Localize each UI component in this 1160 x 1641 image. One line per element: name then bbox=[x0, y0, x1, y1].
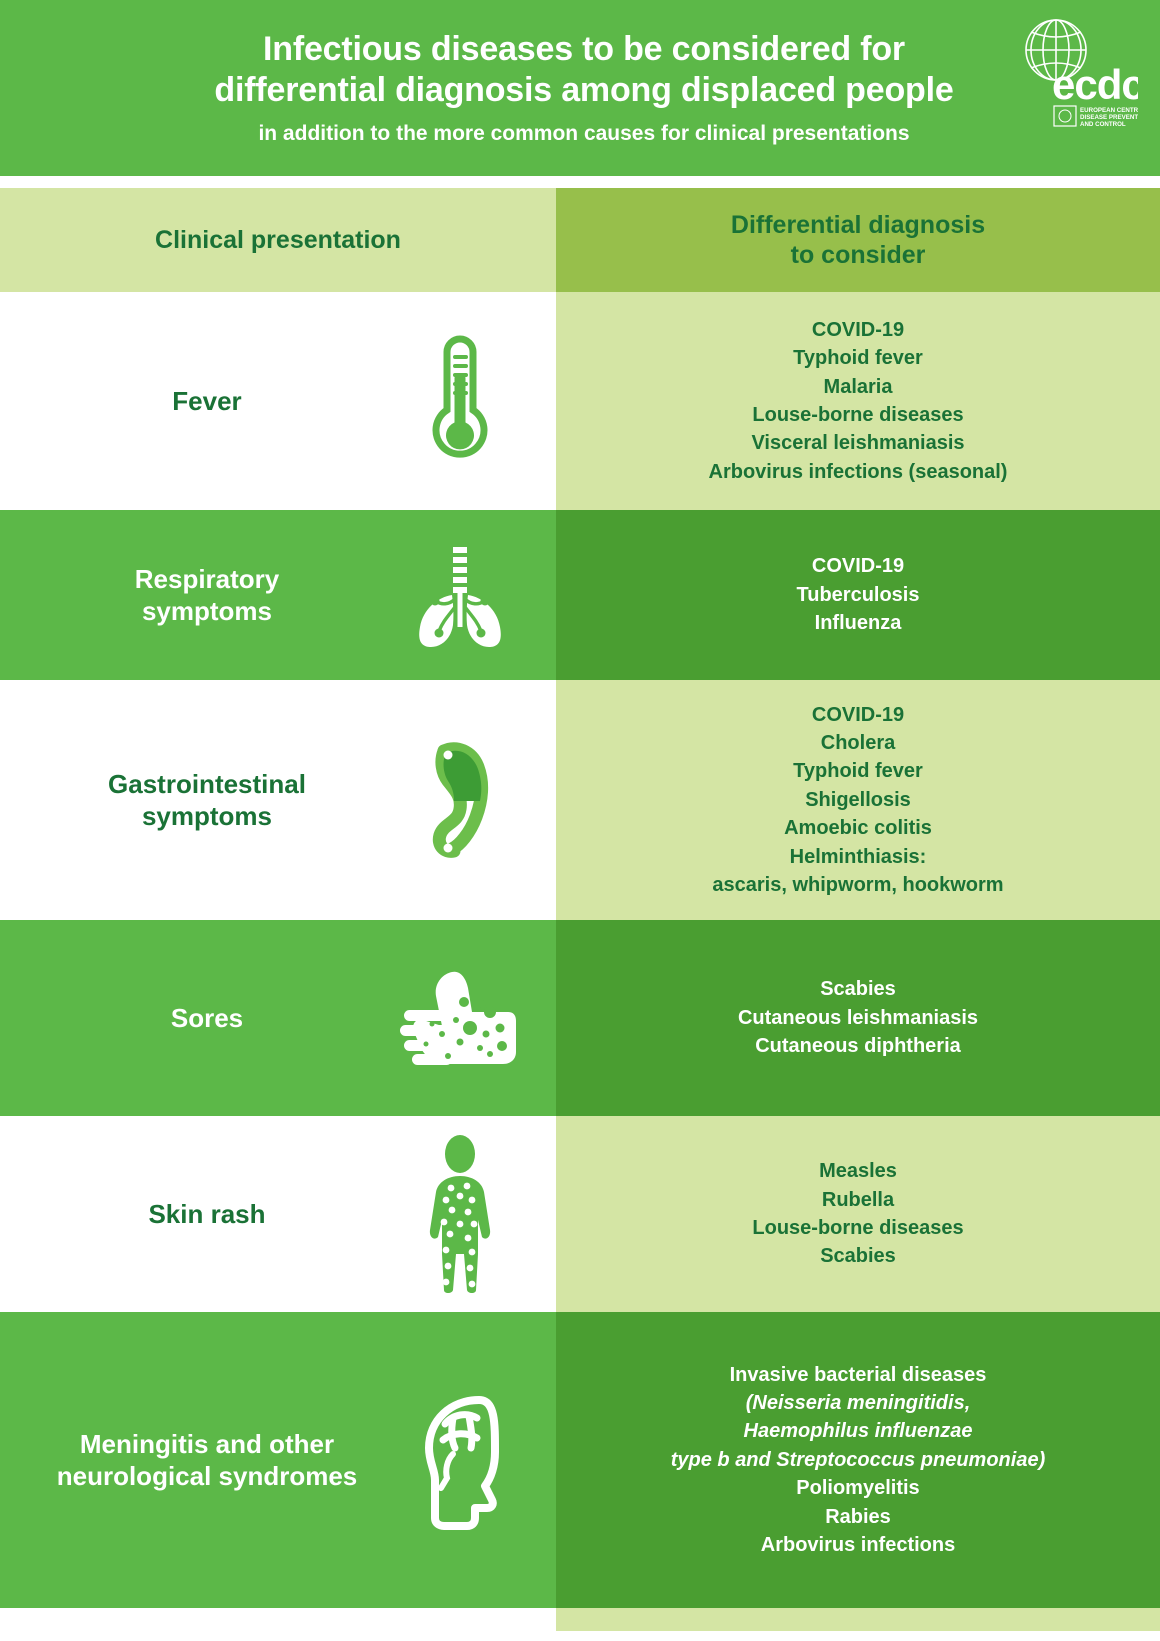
org-line-2: DISEASE PREVENTION bbox=[1080, 114, 1138, 121]
presentation-label-meningitis: Meningitis and other neurological syndro… bbox=[0, 1428, 386, 1493]
body-with-rash-icon bbox=[386, 1134, 556, 1294]
diagnosis-item: Cutaneous leishmaniasis bbox=[738, 1004, 978, 1032]
table-row-gastrointestinal-symptoms: Gastrointestinal symptoms COVID-19 Chole… bbox=[0, 680, 1160, 920]
thermometer-icon bbox=[386, 331, 556, 471]
diagnosis-list-respiratory-symptoms: COVID-19 Tuberculosis Influenza bbox=[797, 552, 920, 637]
head-brain-icon bbox=[386, 1390, 556, 1530]
diagnosis-item: Shigellosis bbox=[712, 786, 1003, 814]
diagnosis-list-skin-rash: Measles Rubella Louse-borne diseases Sca… bbox=[752, 1157, 963, 1271]
header-label-clinical-presentation: Clinical presentation bbox=[155, 225, 401, 256]
diagnosis-item: Malaria bbox=[709, 373, 1008, 401]
diagnosis-item: Typhoid fever bbox=[709, 344, 1008, 372]
diagnosis-item: Tuberculosis bbox=[797, 581, 920, 609]
diagnosis-item: Louse-borne diseases bbox=[709, 401, 1008, 429]
diagnosis-cell-skin-rash: Measles Rubella Louse-borne diseases Sca… bbox=[556, 1116, 1160, 1312]
diagnosis-list-gastrointestinal-symptoms: COVID-19 Cholera Typhoid fever Shigellos… bbox=[712, 701, 1003, 900]
diagnosis-item: Visceral leishmaniasis bbox=[709, 429, 1008, 457]
diagnosis-cell-meningitis: Invasive bacterial diseases (Neisseria m… bbox=[556, 1312, 1160, 1608]
table-row-respiratory-symptoms: Respiratory symptoms bbox=[0, 510, 1160, 680]
presentation-label-skin-rash: Skin rash bbox=[0, 1198, 386, 1231]
diagnosis-list-meningitis: Invasive bacterial diseases (Neisseria m… bbox=[671, 1361, 1046, 1560]
diagnosis-item: Measles bbox=[752, 1157, 963, 1185]
diagnosis-item: Poliomyelitis bbox=[671, 1474, 1046, 1502]
diagnosis-cell-next-partial bbox=[556, 1608, 1160, 1631]
presentation-label-fever: Fever bbox=[0, 385, 386, 418]
diagnosis-item: COVID-19 bbox=[797, 552, 920, 580]
page-title: Infectious diseases to be considered for… bbox=[123, 29, 1045, 113]
table-row-next-partial bbox=[0, 1608, 1160, 1631]
diagnosis-item: Invasive bacterial diseases bbox=[671, 1361, 1046, 1389]
diagnosis-item: Rabies bbox=[671, 1503, 1046, 1531]
diagnosis-item: ascaris, whipworm, hookworm bbox=[712, 871, 1003, 899]
diagnosis-cell-respiratory-symptoms: COVID-19 Tuberculosis Influenza bbox=[556, 510, 1160, 680]
presentation-label-respiratory-symptoms: Respiratory symptoms bbox=[0, 563, 386, 628]
diagnosis-item: Scabies bbox=[752, 1242, 963, 1270]
presentation-label-gastrointestinal-symptoms: Gastrointestinal symptoms bbox=[0, 768, 386, 833]
diagnosis-cell-fever: COVID-19 Typhoid fever Malaria Louse-bor… bbox=[556, 292, 1160, 510]
hand-with-sores-icon bbox=[386, 966, 556, 1070]
ecdc-organisation-text: EUROPEAN CENTRE FOR DISEASE PREVENTION A… bbox=[1080, 107, 1138, 128]
diagnosis-item: type b and Streptococcus pneumoniae) bbox=[671, 1446, 1046, 1474]
lungs-icon bbox=[386, 539, 556, 651]
presentation-cell-skin-rash: Skin rash bbox=[0, 1116, 556, 1312]
diagnosis-cell-sores: Scabies Cutaneous leishmaniasis Cutaneou… bbox=[556, 920, 1160, 1116]
ecdc-wordmark: ecdc bbox=[1052, 61, 1138, 108]
diagnosis-item: Cholera bbox=[712, 729, 1003, 757]
diagnosis-item: Cutaneous diphtheria bbox=[738, 1032, 978, 1060]
table-row-meningitis: Meningitis and other neurological syndro… bbox=[0, 1312, 1160, 1608]
diagnosis-item: Haemophilus influenzae bbox=[671, 1417, 1046, 1445]
presentation-cell-respiratory-symptoms: Respiratory symptoms bbox=[0, 510, 556, 680]
presentation-cell-next-partial bbox=[0, 1608, 556, 1631]
svg-text:ecdc: ecdc bbox=[1052, 61, 1138, 108]
diagnosis-item: (Neisseria meningitidis, bbox=[671, 1389, 1046, 1417]
diagnosis-cell-gastrointestinal-symptoms: COVID-19 Cholera Typhoid fever Shigellos… bbox=[556, 680, 1160, 920]
ecdc-logo-svg: ecdc EUROPEAN CENTRE FOR DISEASE PREVENT… bbox=[1008, 14, 1138, 138]
table-row-sores: Sores bbox=[0, 920, 1160, 1116]
header-text-block: Infectious diseases to be considered for… bbox=[115, 29, 1045, 148]
header-cell-differential-diagnosis: Differential diagnosis to consider bbox=[556, 188, 1160, 292]
org-line-1: EUROPEAN CENTRE FOR bbox=[1080, 107, 1138, 114]
ecdc-logo: ecdc EUROPEAN CENTRE FOR DISEASE PREVENT… bbox=[1008, 14, 1138, 138]
table-row-skin-rash: Skin rash bbox=[0, 1116, 1160, 1312]
diagnosis-item: Arbovirus infections (seasonal) bbox=[709, 458, 1008, 486]
diagnosis-item: Louse-borne diseases bbox=[752, 1214, 963, 1242]
table-header-row: Clinical presentation Differential diagn… bbox=[0, 188, 1160, 292]
eu-flag-box bbox=[1054, 106, 1076, 126]
diagnosis-item: Typhoid fever bbox=[712, 757, 1003, 785]
stomach-icon bbox=[386, 735, 556, 865]
diagnosis-item: COVID-19 bbox=[712, 701, 1003, 729]
infographic-page: Infectious diseases to be considered for… bbox=[0, 0, 1160, 1641]
diagnosis-item: Arbovirus infections bbox=[671, 1531, 1046, 1559]
diagnosis-item: Rubella bbox=[752, 1186, 963, 1214]
header-label-differential-diagnosis: Differential diagnosis to consider bbox=[731, 210, 985, 271]
org-line-3: AND CONTROL bbox=[1080, 121, 1126, 128]
diagnosis-item: Amoebic colitis bbox=[712, 814, 1003, 842]
diagnosis-item: Influenza bbox=[797, 609, 920, 637]
diagnosis-list-fever: COVID-19 Typhoid fever Malaria Louse-bor… bbox=[709, 316, 1008, 486]
diagnosis-item: Scabies bbox=[738, 975, 978, 1003]
header-banner: Infectious diseases to be considered for… bbox=[0, 0, 1160, 176]
presentation-cell-gastrointestinal-symptoms: Gastrointestinal symptoms bbox=[0, 680, 556, 920]
presentation-cell-fever: Fever bbox=[0, 292, 556, 510]
diagnosis-item: Helminthiasis: bbox=[712, 843, 1003, 871]
diagnosis-table: Clinical presentation Differential diagn… bbox=[0, 188, 1160, 1631]
presentation-label-sores: Sores bbox=[0, 1002, 386, 1035]
presentation-cell-meningitis: Meningitis and other neurological syndro… bbox=[0, 1312, 556, 1608]
diagnosis-item: COVID-19 bbox=[709, 316, 1008, 344]
page-subtitle: in addition to the more common causes fo… bbox=[123, 120, 1045, 147]
diagnosis-list-sores: Scabies Cutaneous leishmaniasis Cutaneou… bbox=[738, 975, 978, 1060]
table-row-fever: Fever bbox=[0, 292, 1160, 510]
header-cell-clinical-presentation: Clinical presentation bbox=[0, 188, 556, 292]
presentation-cell-sores: Sores bbox=[0, 920, 556, 1116]
